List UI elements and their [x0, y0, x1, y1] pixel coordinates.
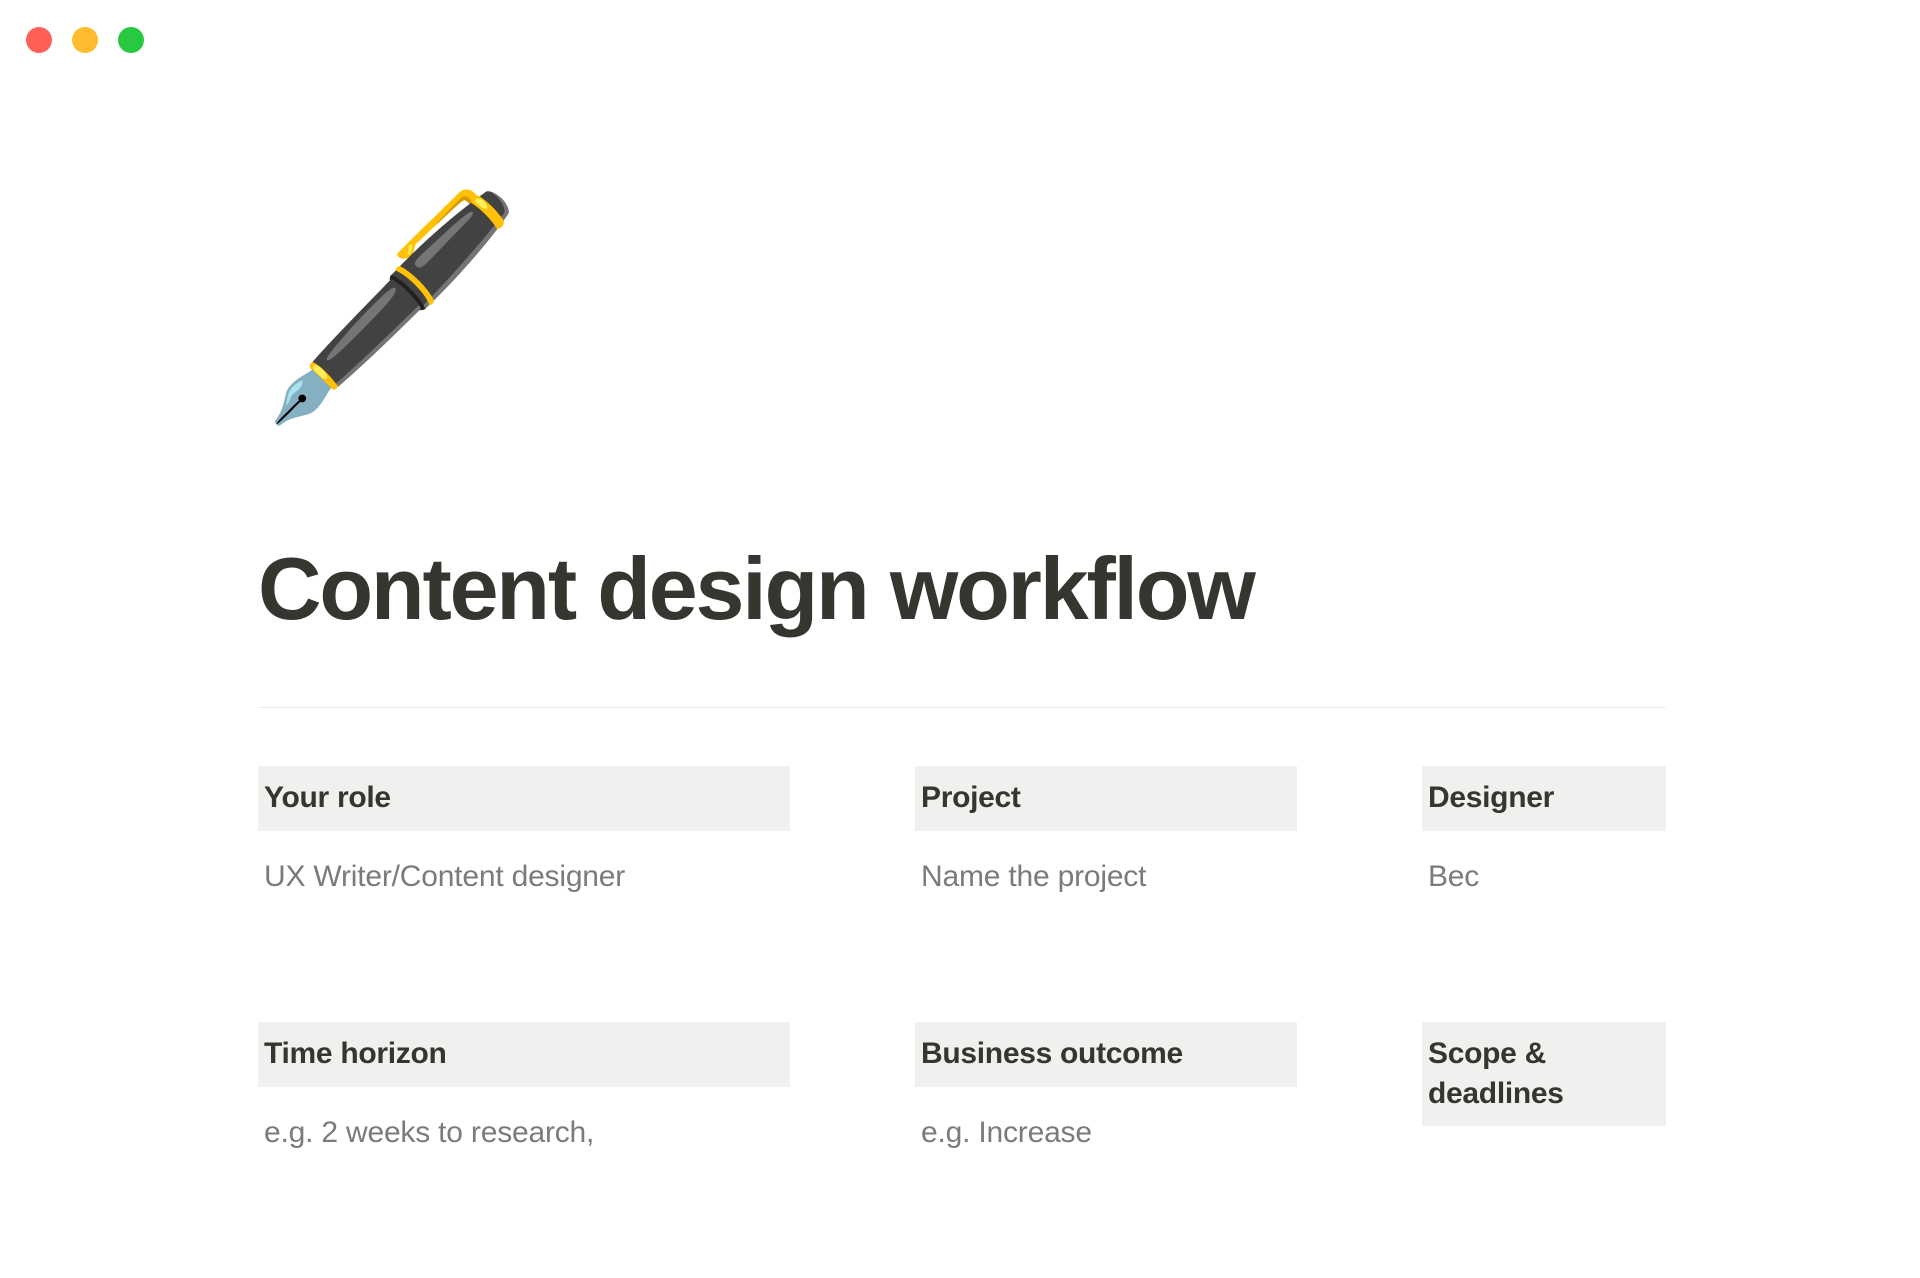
property-value[interactable]: e.g. Increase: [915, 1113, 1297, 1153]
fountain-pen-emoji[interactable]: 🖋️: [258, 182, 488, 432]
window-titlebar: [0, 0, 1920, 72]
property-cell-business-outcome: Business outcome e.g. Increase: [915, 1022, 1297, 1152]
close-button[interactable]: [26, 27, 52, 53]
document-page: 🖋️ Content design workflow Your role UX …: [0, 0, 1920, 1200]
property-value[interactable]: e.g. 2 weeks to research,: [258, 1113, 790, 1153]
property-cell-designer: Designer Bec: [1422, 766, 1666, 896]
property-label[interactable]: Your role: [258, 766, 790, 831]
minimize-button[interactable]: [72, 27, 98, 53]
property-row: Time horizon e.g. 2 weeks to research, B…: [258, 1022, 1668, 1278]
property-cell-scope-deadlines: Scope & deadlines: [1422, 1022, 1666, 1152]
property-label[interactable]: Project: [915, 766, 1297, 831]
property-label[interactable]: Time horizon: [258, 1022, 790, 1087]
page-title[interactable]: Content design workflow: [258, 543, 1678, 635]
property-label[interactable]: Scope & deadlines: [1422, 1022, 1666, 1126]
horizontal-divider: [258, 707, 1666, 708]
property-cell-your-role: Your role UX Writer/Content designer: [258, 766, 790, 896]
property-value[interactable]: Name the project: [915, 857, 1297, 897]
maximize-button[interactable]: [118, 27, 144, 53]
property-label[interactable]: Designer: [1422, 766, 1666, 831]
property-grid: Your role UX Writer/Content designer Pro…: [258, 766, 1668, 1278]
property-cell-project: Project Name the project: [915, 766, 1297, 896]
property-value[interactable]: UX Writer/Content designer: [258, 857, 790, 897]
property-cell-time-horizon: Time horizon e.g. 2 weeks to research,: [258, 1022, 790, 1152]
property-value[interactable]: Bec: [1422, 857, 1666, 897]
property-row: Your role UX Writer/Content designer Pro…: [258, 766, 1668, 1022]
property-label[interactable]: Business outcome: [915, 1022, 1297, 1087]
traffic-lights: [26, 27, 144, 53]
